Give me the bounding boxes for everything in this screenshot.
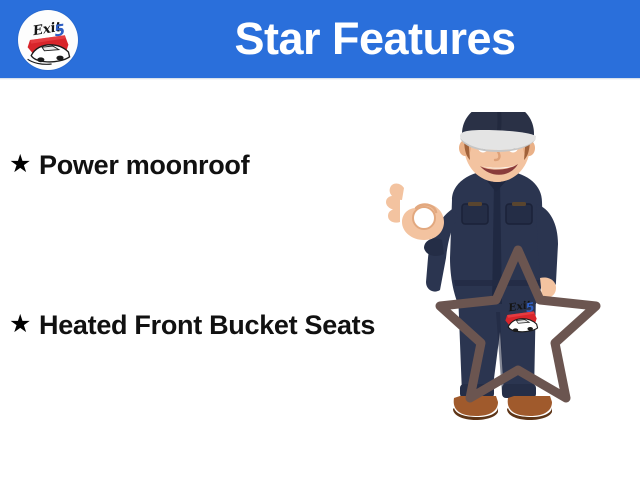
svg-text:5: 5 (525, 299, 536, 315)
exit5-logo-icon: Exit 5 (18, 10, 78, 70)
star-bullet-icon: ★ (9, 147, 39, 181)
mechanic-character-svg (386, 112, 640, 424)
exit5-logo-icon: Exit 5 (498, 292, 544, 338)
features-list: ★ Power moonroof ★ Heated Front Bucket S… (0, 90, 390, 342)
feature-label: Heated Front Bucket Seats (39, 307, 390, 342)
list-item: ★ Power moonroof (0, 147, 390, 182)
list-item: ★ Heated Front Bucket Seats (0, 307, 390, 342)
exit5-logo-svg: Exit 5 (498, 292, 544, 338)
feature-label: Power moonroof (39, 147, 390, 182)
header-divider (0, 78, 640, 80)
star-bullet-icon: ★ (9, 307, 39, 341)
mechanic-character-illustration (386, 112, 640, 424)
exit5-logo-svg: Exit 5 (18, 10, 78, 70)
page-title: Star Features (110, 0, 640, 78)
